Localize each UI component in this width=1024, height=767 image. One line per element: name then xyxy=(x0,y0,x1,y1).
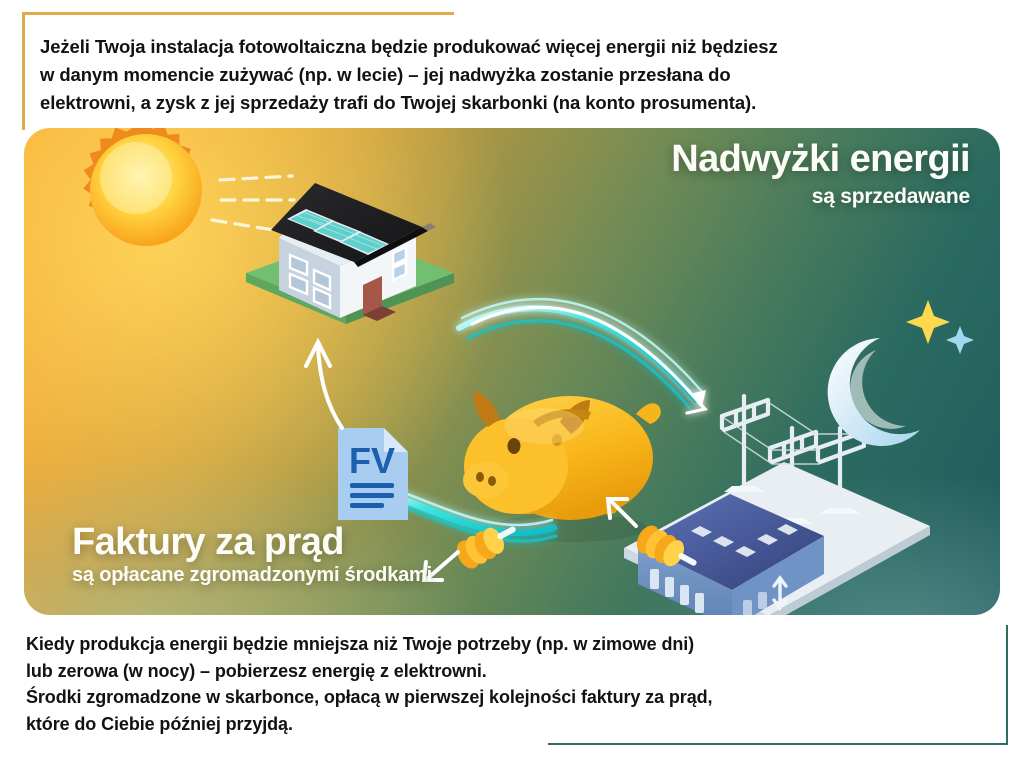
outro-paragraph: Kiedy produkcja energii będzie mniejsza … xyxy=(26,631,986,738)
illustration-panel: FV xyxy=(24,128,1000,615)
invoice-label: FV xyxy=(349,440,395,481)
outro-line-1: Kiedy produkcja energii będzie mniejsza … xyxy=(26,631,986,658)
sun-icon xyxy=(68,128,224,268)
heading-invoices-subtitle: są opłacane zgromadzonymi środkami xyxy=(72,564,432,587)
outro-line-2: lub zerowa (w nocy) – pobierzesz energię… xyxy=(26,658,986,685)
house-with-solar-panels xyxy=(246,183,454,324)
heading-invoices-title: Faktury za prąd xyxy=(72,523,432,562)
intro-paragraph: Jeżeli Twoja instalacja fotowoltaiczna b… xyxy=(40,33,975,117)
intro-line-3: elektrowni, a zysk z jej sprzedaży trafi… xyxy=(40,89,975,117)
energy-flow-arrow-to-plant xyxy=(459,299,710,413)
heading-surplus-subtitle: są sprzedawane xyxy=(671,185,970,209)
outro-line-3: Środki zgromadzone w skarbonce, opłacą w… xyxy=(26,684,986,711)
payment-arrow-to-house xyxy=(306,342,342,428)
star-icon xyxy=(906,300,974,354)
heading-surplus-title: Nadwyżki energii xyxy=(671,140,970,179)
intro-line-1: Jeżeli Twoja instalacja fotowoltaiczna b… xyxy=(40,33,975,61)
intro-line-2: w danym momencie zużywać (np. w lecie) –… xyxy=(40,61,975,89)
heading-surplus-energy: Nadwyżki energii są sprzedawane xyxy=(671,140,970,209)
power-plant-icon xyxy=(624,396,930,615)
outro-line-4: które do Ciebie później przyjdą. xyxy=(26,711,986,738)
heading-electricity-invoices: Faktury za prąd są opłacane zgromadzonym… xyxy=(72,523,432,587)
